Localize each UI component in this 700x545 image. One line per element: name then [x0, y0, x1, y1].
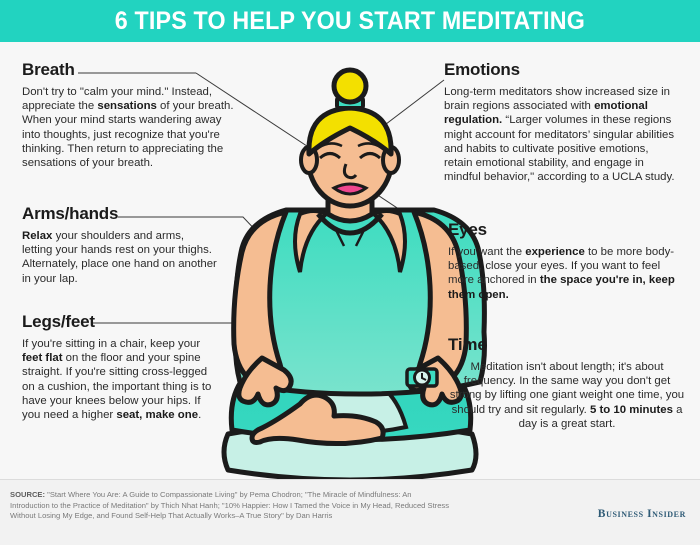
tip-body-legs-feet: If you're sitting in a chair, keep your … [22, 337, 220, 422]
tip-block-time: Time Meditation isn't about length; it's… [448, 335, 686, 431]
page-title: 6 TIPS TO HELP YOU START MEDITATING [115, 7, 585, 36]
source-label: SOURCE: [10, 490, 45, 499]
tip-body-arms-hands: Relax your shoulders and arms, letting y… [22, 229, 217, 286]
tip-title-legs-feet: Legs/feet [22, 312, 220, 332]
tip-title-eyes: Eyes [448, 220, 676, 240]
tip-body-time: Meditation isn't about length; it's abou… [448, 360, 686, 431]
business-insider-logo: Business Insider [598, 508, 686, 520]
tip-block-legs-feet: Legs/feet If you're sitting in a chair, … [22, 312, 220, 422]
tip-block-arms-hands: Arms/hands Relax your shoulders and arms… [22, 204, 217, 286]
tip-title-breath: Breath [22, 60, 237, 80]
tip-body-breath: Don't try to "calm your mind." Instead, … [22, 85, 237, 170]
tip-title-emotions: Emotions [444, 60, 680, 80]
tip-block-breath: Breath Don't try to "calm your mind." In… [22, 60, 237, 170]
infographic-page: 6 TIPS TO HELP YOU START MEDITATING [0, 0, 700, 545]
source-credit: SOURCE: "Start Where You Are: A Guide to… [10, 490, 450, 522]
tip-title-arms-hands: Arms/hands [22, 204, 217, 224]
wrist-watch [407, 369, 437, 386]
footer-bar: SOURCE: "Start Where You Are: A Guide to… [0, 480, 700, 545]
lips [334, 184, 366, 194]
header-bar: 6 TIPS TO HELP YOU START MEDITATING [0, 0, 700, 42]
tip-block-eyes: Eyes If you want the experience to be mo… [448, 220, 676, 302]
tip-body-emotions: Long-term meditators show increased size… [444, 85, 680, 184]
tip-block-emotions: Emotions Long-term meditators show incre… [444, 60, 680, 184]
illustration-area: Breath Don't try to "calm your mind." In… [0, 42, 700, 479]
tip-title-time: Time [448, 335, 686, 355]
tip-body-eyes: If you want the experience to be more bo… [448, 245, 676, 302]
hair-bun [334, 70, 366, 102]
source-text: "Start Where You Are: A Guide to Compass… [10, 490, 449, 520]
